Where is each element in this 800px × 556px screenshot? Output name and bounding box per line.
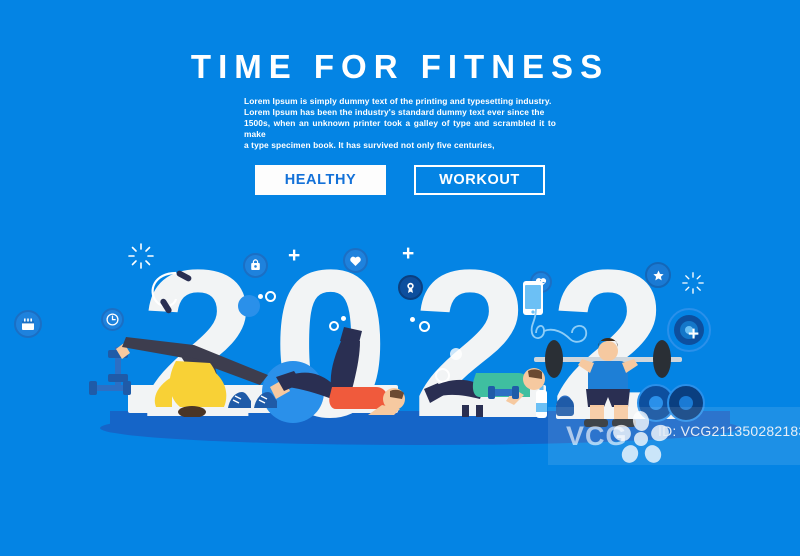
year-digit-3: 2 [412, 239, 523, 449]
workout-button[interactable]: WORKOUT [414, 165, 545, 195]
dot-2 [341, 316, 346, 321]
star-icon [645, 262, 671, 288]
clock-icon [101, 308, 124, 331]
illustration-stage: 2 0 2 2 [0, 225, 800, 455]
dot-1 [258, 294, 263, 299]
header-block: TIME FOR FITNESS Lorem Ipsum is simply d… [0, 50, 800, 195]
cta-button-group: HEALTHY WORKOUT [0, 165, 800, 195]
bag-icon [243, 253, 268, 278]
poster-canvas: TIME FOR FITNESS Lorem Ipsum is simply d… [0, 0, 800, 556]
dot-3 [410, 317, 415, 322]
calendar-icon [14, 310, 42, 338]
sparkle-icon-right [682, 272, 704, 294]
page-title: TIME FOR FITNESS [0, 50, 800, 83]
plus-icon-1: + [288, 245, 300, 266]
blue-blob [238, 295, 260, 317]
description-line-3: 1500s, when an unknown printer took a ga… [244, 118, 556, 140]
circle-outline-1 [265, 291, 276, 302]
plus-icon-2: + [402, 243, 414, 264]
healthy-button[interactable]: HEALTHY [255, 165, 386, 195]
description-line-2: Lorem Ipsum has been the industry's stan… [244, 107, 556, 118]
description-paragraph: Lorem Ipsum is simply dummy text of the … [244, 96, 556, 151]
sparkle-icon-left [128, 243, 154, 269]
jump-rope-prop [142, 267, 212, 325]
description-line-1: Lorem Ipsum is simply dummy text of the … [244, 96, 556, 107]
plank-athlete [258, 325, 428, 421]
medal-icon [398, 275, 423, 300]
plus-icon-3: + [688, 325, 699, 344]
watermark-id-text: ID: VCG211350282183 [658, 423, 800, 439]
description-line-4: a type specimen book. It has survived no… [244, 140, 556, 151]
heart-icon [343, 248, 368, 273]
